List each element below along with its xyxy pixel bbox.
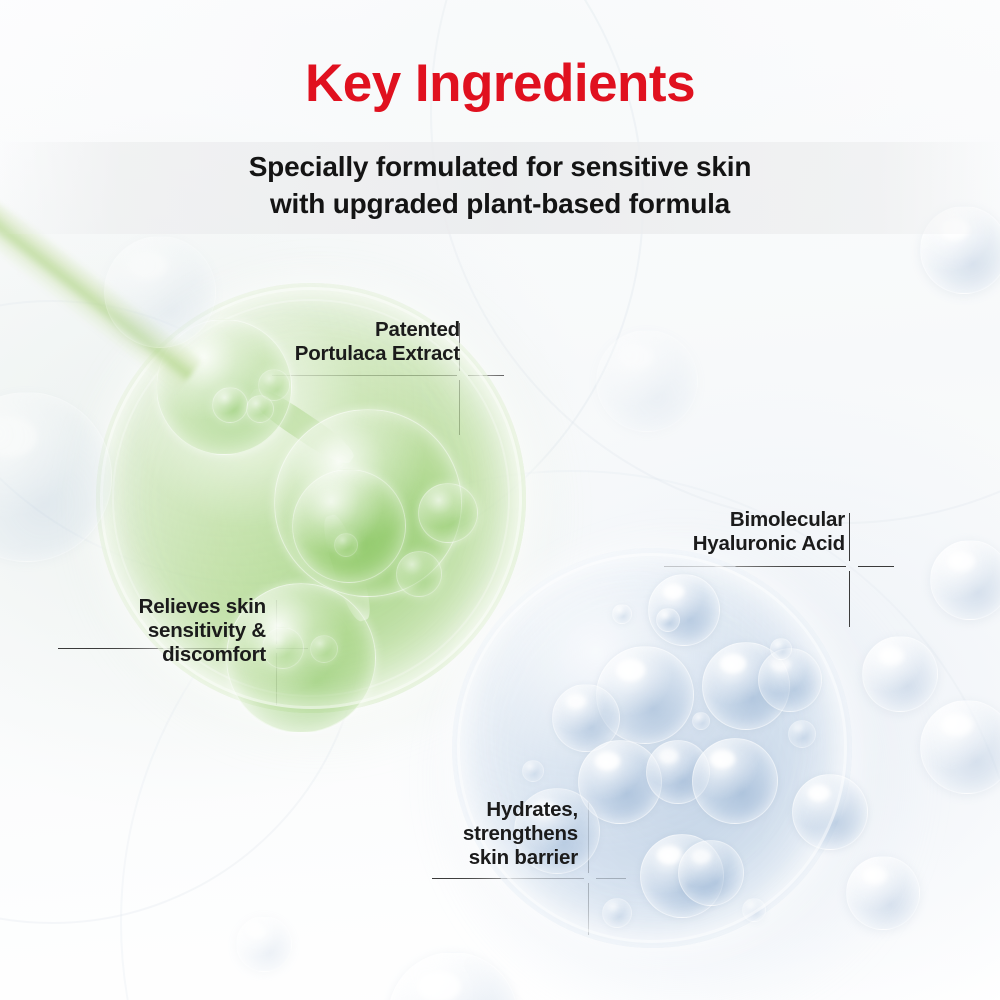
callout-relieves-skin-sensitivity: Relieves skin sensitivity & discomfort [50, 595, 266, 666]
water-drop-13 [656, 608, 680, 632]
water-drop-17 [522, 760, 544, 782]
water-drop-8 [692, 738, 778, 824]
molecule-bubble-tiny-b [246, 395, 274, 423]
callout-hydrates-strengthens-skin-barrier: Hydrates, strengthens skin barrier [430, 798, 578, 869]
molecule-bubble-small-right [418, 483, 478, 543]
callout-rule-v-hyaluronic-upper [849, 513, 850, 561]
water-drop-20 [742, 898, 766, 922]
page-subtitle-line-2: with upgraded plant-based formula [0, 185, 1000, 222]
callout-label-relieves-skin-sensitivity: Relieves skin sensitivity & discomfort [50, 595, 266, 666]
molecule-bubble-tiny-c [258, 369, 290, 401]
water-drop-4 [758, 648, 822, 712]
key-ingredients-poster: Patented Portulaca Extract Bimolecular H… [0, 0, 1000, 1000]
callout-label-patented-portulaca-extract: Patented Portulaca Extract [250, 318, 460, 366]
molecule-bubble-small-right2 [396, 551, 442, 597]
water-drop-15 [770, 638, 792, 660]
water-drop-9 [792, 774, 868, 850]
molecule-bubble-inner [292, 469, 406, 583]
callout-rule-h-hyaluronic-right [858, 566, 894, 567]
molecule-bubble-tiny-a [212, 387, 248, 423]
water-drop-19 [602, 898, 632, 928]
molecule-stem-2 [318, 512, 377, 625]
floating-droplet-bottom-left [236, 916, 292, 972]
water-drop-6 [578, 740, 662, 824]
water-drop-11 [640, 834, 724, 918]
water-drop-1 [648, 574, 720, 646]
water-drop-18 [788, 720, 816, 748]
water-drop-3 [702, 642, 790, 730]
callout-label-bimolecular-hyaluronic-acid: Bimolecular Hyaluronic Acid [640, 508, 845, 556]
background-bubble-topleft [104, 236, 216, 348]
callout-patented-portulaca-extract: Patented Portulaca Extract [250, 318, 460, 366]
callout-bimolecular-hyaluronic-acid: Bimolecular Hyaluronic Acid [640, 508, 845, 556]
floating-droplet-bottom-right [846, 856, 920, 930]
water-drop-2 [596, 646, 694, 744]
page-subtitle-wrap: Specially formulated for sensitive skin … [0, 148, 1000, 222]
molecule-bubble-tiny-f [334, 533, 358, 557]
blue-sphere [452, 548, 852, 948]
water-drop-14 [612, 604, 632, 624]
water-drop-12 [678, 840, 744, 906]
floating-droplet-right-upper [930, 540, 1000, 620]
molecule-stem-1 [245, 382, 359, 471]
molecule-bubble-tiny-d [262, 627, 304, 669]
page-subtitle-line-1: Specially formulated for sensitive skin [0, 148, 1000, 185]
molecule-bubble-main [274, 409, 462, 597]
callout-label-hydrates-strengthens-skin-barrier: Hydrates, strengthens skin barrier [430, 798, 578, 869]
page-title: Key Ingredients [0, 56, 1000, 112]
page-title-wrap: Key Ingredients [0, 56, 1000, 112]
molecule-bubble-tiny-e [310, 635, 338, 663]
callout-rule-v-hyaluronic-lower [849, 571, 850, 627]
floating-droplet-right-mid [862, 636, 938, 712]
background-bubble-topmid [596, 330, 698, 432]
water-drop-16 [692, 712, 710, 730]
water-drop-5 [552, 684, 620, 752]
water-drop-7 [646, 740, 710, 804]
